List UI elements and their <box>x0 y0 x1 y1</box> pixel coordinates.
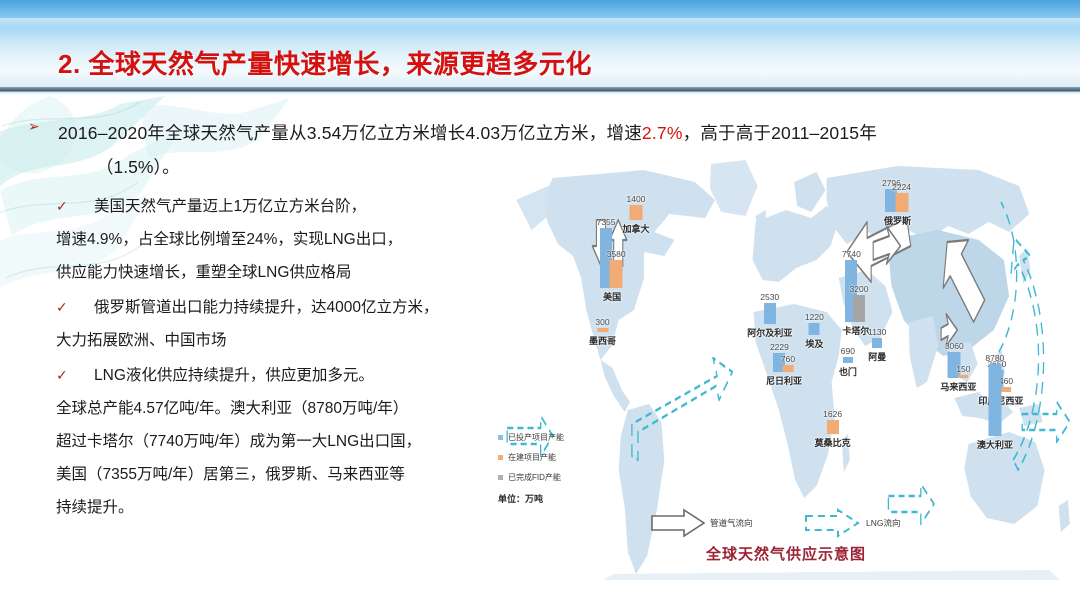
sub-bullet-continuation-line: 超过卡塔尔（7740万吨/年）成为第一大LNG出口国， <box>56 425 496 458</box>
capacity-value: 300 <box>595 317 609 327</box>
sub-bullet-continuation-line: 美国（7355万吨/年）居第三，俄罗斯、马来西亚等 <box>56 458 496 491</box>
capacity-bar <box>895 193 908 212</box>
capacity-value: 2229 <box>770 342 789 352</box>
flow-arrow-legend-icons <box>648 508 948 538</box>
page-title: 2. 全球天然气产量快速增长，来源更趋多元化 <box>58 44 592 81</box>
legend-row: 已投产项目产能 <box>498 432 618 443</box>
sub-bullet-list: ✓美国天然气产量迈上1万亿立方米台阶，增速4.9%，占全球比例增至24%，实现L… <box>56 190 496 526</box>
country-label: 卡塔尔 <box>842 324 869 337</box>
capacity-value: 150 <box>956 364 970 374</box>
dashed-arrow-icon <box>806 510 858 536</box>
capacity-value: 1130 <box>868 327 886 337</box>
country-label: 加拿大 <box>622 222 649 235</box>
country-label: 墨西哥 <box>589 334 616 347</box>
map-legend: 已投产项目产能在建项目产能已完成FID产能 单位：万吨 <box>498 432 618 505</box>
country-label: 美国 <box>603 290 621 303</box>
legend-label: 在建项目产能 <box>508 452 556 463</box>
capacity-value: 690 <box>841 346 855 356</box>
legend-swatch-gray <box>498 475 503 480</box>
legend-unit-label: 单位：万吨 <box>498 492 618 505</box>
check-icon: ✓ <box>56 190 86 223</box>
capacity-value: 1400 <box>626 194 645 204</box>
capacity-value: 3060 <box>945 341 964 351</box>
capacity-bar <box>827 420 839 434</box>
sub-bullet-continuation-line: 持续提升。 <box>56 491 496 524</box>
main-bullet-line-1-part-a: 2016–2020年全球天然气产量从3.54万亿立方米增长4.03万亿立方米，增… <box>58 123 642 143</box>
country-label: 埃及 <box>805 337 823 350</box>
country-label: 也门 <box>839 365 857 378</box>
sub-bullet-item: ✓美国天然气产量迈上1万亿立方米台阶，增速4.9%，占全球比例增至24%，实现L… <box>56 190 496 289</box>
sub-bullet-first-line: ✓LNG液化供应持续提升，供应更加多元。 <box>56 359 496 392</box>
capacity-bar <box>853 295 865 322</box>
flow-arrow-legend: 管道气流向 LNG流向 <box>648 508 948 538</box>
capacity-bar <box>610 260 623 288</box>
header-underglow <box>0 92 1080 95</box>
country-label: 马来西亚 <box>940 380 976 393</box>
country-label: 俄罗斯 <box>884 214 911 227</box>
legend-swatch-blue <box>498 435 503 440</box>
capacity-value: 760 <box>781 354 795 364</box>
capacity-value: 1626 <box>823 409 842 419</box>
capacity-value: 7740 <box>842 249 861 259</box>
slide-root: 2. 全球天然气产量快速增长，来源更趋多元化 ➢ 2016–2020年全球天然气… <box>0 0 1080 608</box>
sub-bullet-continuation-line: 增速4.9%，占全球比例增至24%，实现LNG出口， <box>56 223 496 256</box>
capacity-bar <box>764 303 776 324</box>
legend-label: 已投产项目产能 <box>508 432 564 443</box>
capacity-bar <box>958 375 968 378</box>
lng-flow-legend-label: LNG流向 <box>866 517 900 529</box>
legend-row: 已完成FID产能 <box>498 472 618 483</box>
capacity-value: 8780 <box>985 353 1004 363</box>
country-label: 阿尔及利亚 <box>747 326 792 339</box>
country-label: 阿曼 <box>868 350 886 363</box>
capacity-bar <box>1001 387 1011 392</box>
sub-bullet-label: 美国天然气产量迈上1万亿立方米台阶， <box>86 190 366 223</box>
sub-bullet-continuation-line: 大力拓展欧洲、中国市场 <box>56 324 496 357</box>
country-label: 尼日利亚 <box>766 374 802 387</box>
sub-bullet-label: 俄罗斯管道出口能力持续提升，达4000亿立方米， <box>86 291 438 324</box>
capacity-bar <box>843 357 853 363</box>
growth-rate-highlight: 2.7% <box>642 123 683 143</box>
country-label: 澳大利亚 <box>977 438 1013 451</box>
main-bullet-line-1: 2016–2020年全球天然气产量从3.54万亿立方米增长4.03万亿立方米，增… <box>58 114 1058 152</box>
capacity-value: 3580 <box>607 249 626 259</box>
legend-row: 在建项目产能 <box>498 452 618 463</box>
capacity-bar <box>783 365 794 372</box>
capacity-value: 2224 <box>892 182 911 192</box>
sub-bullet-continuation-line: 全球总产能4.57亿吨/年。澳大利亚（8780万吨/年） <box>56 392 496 425</box>
check-icon: ✓ <box>56 291 86 324</box>
map-caption: 全球天然气供应示意图 <box>492 543 1080 564</box>
sub-bullet-first-line: ✓俄罗斯管道出口能力持续提升，达4000亿立方米， <box>56 291 496 324</box>
capacity-bar <box>597 328 608 332</box>
pipeline-flow-legend-label: 管道气流向 <box>710 517 753 529</box>
sub-bullet-label: LNG液化供应持续提升，供应更加多元。 <box>86 359 374 392</box>
main-bullet-line-1-part-b: ，高于高于2011–2015年 <box>683 123 877 143</box>
capacity-bar <box>809 323 820 335</box>
sub-bullet-item: ✓LNG液化供应持续提升，供应更加多元。全球总产能4.57亿吨/年。澳大利亚（8… <box>56 359 496 524</box>
sub-bullet-item: ✓俄罗斯管道出口能力持续提升，达4000亿立方米，大力拓展欧洲、中国市场 <box>56 291 496 357</box>
capacity-value: 1220 <box>805 312 824 322</box>
capacity-value: 7355 <box>597 217 616 227</box>
sub-bullet-continuation-line: 供应能力快速增长，重塑全球LNG供应格局 <box>56 256 496 289</box>
capacity-bar <box>629 205 642 220</box>
capacity-value: 2530 <box>760 292 779 302</box>
country-label: 莫桑比克 <box>815 436 851 449</box>
legend-label: 已完成FID产能 <box>508 472 561 483</box>
sub-bullet-first-line: ✓美国天然气产量迈上1万亿立方米台阶， <box>56 190 496 223</box>
capacity-bar <box>988 364 1001 436</box>
legend-swatch-orange <box>498 455 503 460</box>
capacity-value: 3200 <box>850 284 869 294</box>
header-sheen <box>0 18 1080 28</box>
bullet-arrow-icon: ➢ <box>28 119 42 133</box>
solid-arrow-icon <box>652 510 704 536</box>
capacity-bar <box>872 338 882 348</box>
check-icon: ✓ <box>56 359 86 392</box>
